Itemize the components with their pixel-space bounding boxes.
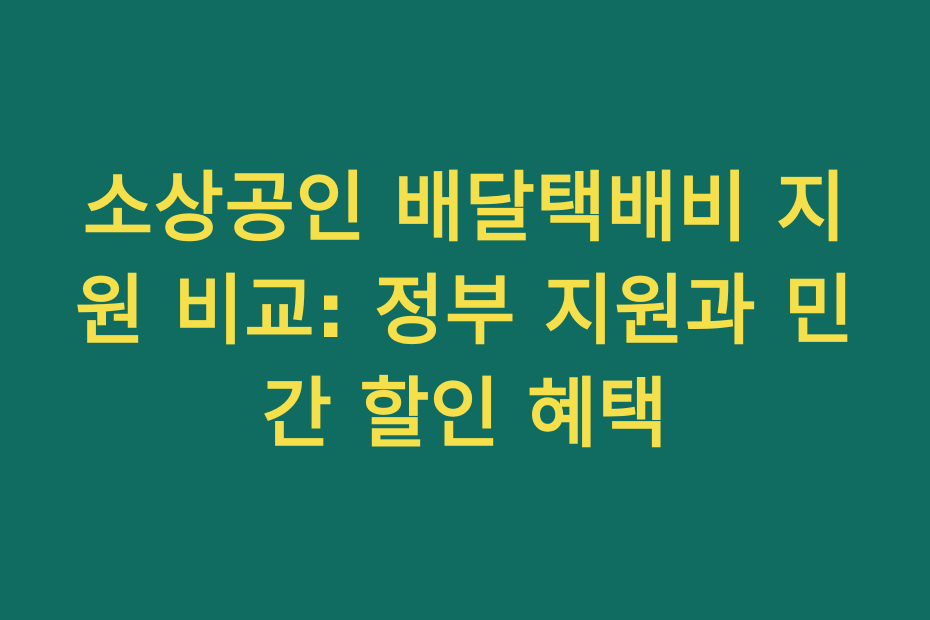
page-title-line-1: 소상공인 배달택배비 지 <box>70 156 860 259</box>
title-card-content: 소상공인 배달택배비 지 원 비교: 정부 지원과 민 간 할인 혜택 <box>70 156 860 465</box>
page-title-line-3: 간 할인 혜택 <box>70 362 860 465</box>
page-title: 소상공인 배달택배비 지 원 비교: 정부 지원과 민 간 할인 혜택 <box>70 156 860 465</box>
title-card: 소상공인 배달택배비 지 원 비교: 정부 지원과 민 간 할인 혜택 <box>0 0 930 620</box>
page-title-line-2: 원 비교: 정부 지원과 민 <box>70 259 860 362</box>
